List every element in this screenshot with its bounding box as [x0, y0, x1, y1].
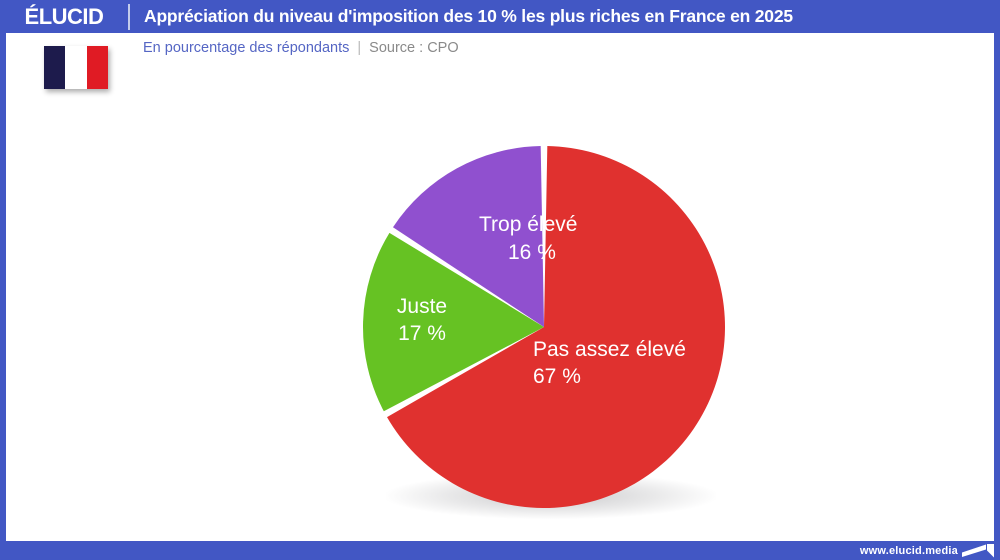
pie-chart: Pas assez élevé67 %Juste17 %Trop élevé16…	[6, 33, 994, 541]
arrow-mark-icon	[960, 541, 996, 560]
page-title: Appréciation du niveau d'imposition des …	[130, 6, 793, 27]
content-card: En pourcentage des répondants | Source :…	[6, 33, 994, 541]
elucid-logo[interactable]: ÉLUCID	[0, 0, 128, 33]
elucid-logo-text: ÉLUCID	[25, 6, 104, 28]
footer-url[interactable]: www.elucid.media	[860, 545, 960, 557]
pie-slice-value: 67 %	[533, 365, 581, 388]
pie-slice-label: Juste	[397, 295, 447, 318]
pie-slice-value: 16 %	[508, 241, 556, 264]
footer-bar: www.elucid.media	[0, 541, 1000, 560]
infographic-page: ÉLUCID Appréciation du niveau d'impositi…	[0, 0, 1000, 560]
pie-slice-label: Trop élevé	[479, 213, 577, 236]
header-bar: ÉLUCID Appréciation du niveau d'impositi…	[0, 0, 1000, 33]
pie-slice-label: Pas assez élevé	[533, 338, 686, 361]
pie-chart-svg: Pas assez élevé67 %Juste17 %Trop élevé16…	[6, 33, 994, 541]
pie-slice-value: 17 %	[398, 322, 446, 345]
